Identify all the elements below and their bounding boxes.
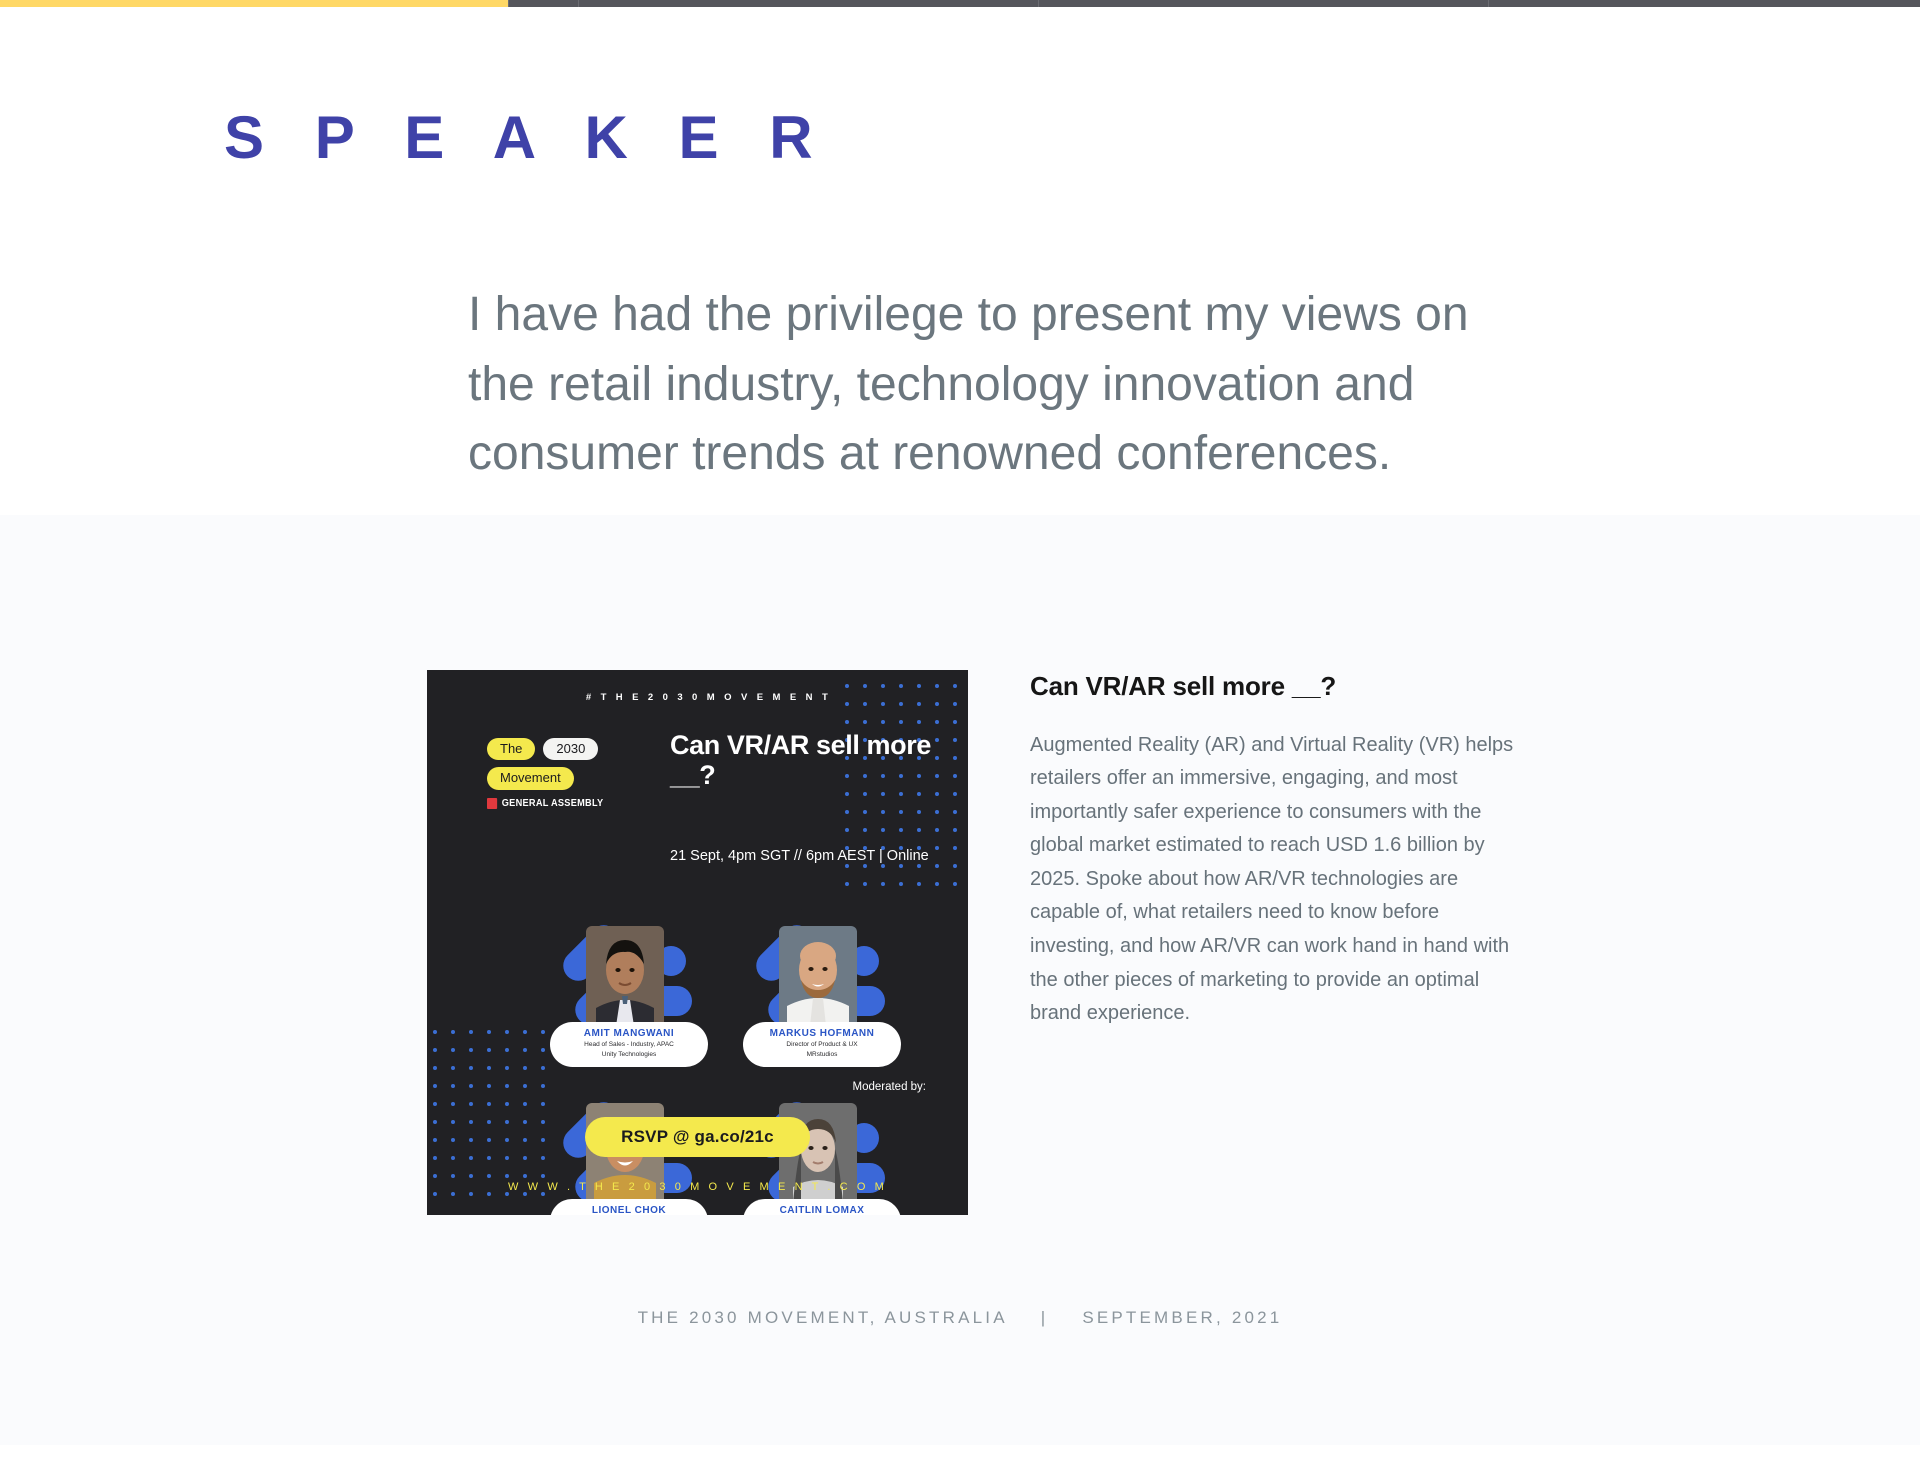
lead-quote: I have had the privilege to present my v… — [468, 280, 1478, 489]
footer-date: SEPTEMBER, 2021 — [1082, 1308, 1282, 1327]
progress-bar-segment — [1038, 0, 1488, 7]
poster-brand-lockup: The 2030 Movement GENERAL ASSEMBLY — [487, 738, 647, 809]
slide-footer: THE 2030 MOVEMENT, AUSTRALIA | SEPTEMBER… — [0, 1308, 1920, 1328]
speaker-role: Head of Sales - Industry, APAC — [554, 1041, 704, 1050]
speaker-name: LIONEL CHOK — [554, 1205, 704, 1215]
speaker-portrait — [550, 920, 705, 1032]
speaker-portrait — [743, 920, 898, 1032]
progress-bar-fill — [0, 0, 508, 7]
speaker-name-card: LIONEL CHOK Creative Technologist IMMERS… — [550, 1199, 708, 1215]
speaker-company: Unity Technologies — [554, 1051, 704, 1060]
progress-bar-segment — [508, 0, 578, 7]
page-title: S P E A K E R — [224, 108, 830, 168]
event-title: Can VR/AR sell more __? — [1030, 670, 1520, 703]
speaker-name-card: MARKUS HOFMANN Director of Product & UX … — [743, 1022, 901, 1067]
rsvp-cta[interactable]: RSVP @ ga.co/21c — [427, 1117, 968, 1157]
avatar — [779, 926, 857, 1026]
poster-speaker-grid: AMIT MANGWANI Head of Sales - Industry, … — [494, 920, 954, 1215]
poster-hashtag: # T H E 2 0 3 0 M O V E M E N T — [427, 692, 968, 703]
progress-bar[interactable] — [0, 0, 1920, 7]
speaker-company: MRstudios — [747, 1051, 897, 1060]
brand-pill-movement: Movement — [487, 767, 574, 789]
speaker-name-card: CAITLIN LOMAX Director Intr Studio — [743, 1199, 901, 1215]
avatar — [586, 926, 664, 1026]
slide-root: S P E A K E R I have had the privilege t… — [0, 0, 1920, 1465]
brand-pill-year: 2030 — [543, 738, 598, 760]
footer-event-location: THE 2030 MOVEMENT, AUSTRALIA — [638, 1308, 1007, 1327]
speaker-row: AMIT MANGWANI Head of Sales - Industry, … — [494, 920, 954, 1067]
progress-bar-segment — [578, 0, 1038, 7]
partner-name: GENERAL ASSEMBLY — [502, 798, 604, 809]
speaker-card: MARKUS HOFMANN Director of Product & UX … — [743, 920, 898, 1067]
poster-website-url[interactable]: W W W . T H E 2 0 3 0 M O V E M E N T . … — [427, 1181, 968, 1193]
speaker-name: MARKUS HOFMANN — [747, 1028, 897, 1040]
event-details: Can VR/AR sell more __? Augmented Realit… — [1030, 670, 1520, 1031]
progress-bar-segment — [1488, 0, 1919, 7]
speaker-role: Director of Product & UX — [747, 1041, 897, 1050]
event-poster-image[interactable]: # T H E 2 0 3 0 M O V E M E N T The 2030… — [427, 670, 968, 1215]
poster-headline: Can VR/AR sell more __? — [670, 730, 940, 790]
partner-logo: GENERAL ASSEMBLY — [487, 798, 634, 809]
moderated-by-label: Moderated by: — [494, 1081, 954, 1093]
event-description: Augmented Reality (AR) and Virtual Reali… — [1030, 729, 1520, 1031]
speaker-name-card: AMIT MANGWANI Head of Sales - Industry, … — [550, 1022, 708, 1067]
speaker-name: AMIT MANGWANI — [554, 1028, 704, 1040]
rsvp-button[interactable]: RSVP @ ga.co/21c — [585, 1117, 810, 1157]
brand-pill-the: The — [487, 738, 535, 760]
poster-datetime: 21 Sept, 4pm SGT // 6pm AEST | Online — [670, 848, 929, 864]
speaker-card: AMIT MANGWANI Head of Sales - Industry, … — [550, 920, 705, 1067]
speaker-name: CAITLIN LOMAX — [747, 1205, 897, 1215]
general-assembly-icon — [487, 798, 497, 809]
footer-separator: | — [1015, 1308, 1075, 1328]
